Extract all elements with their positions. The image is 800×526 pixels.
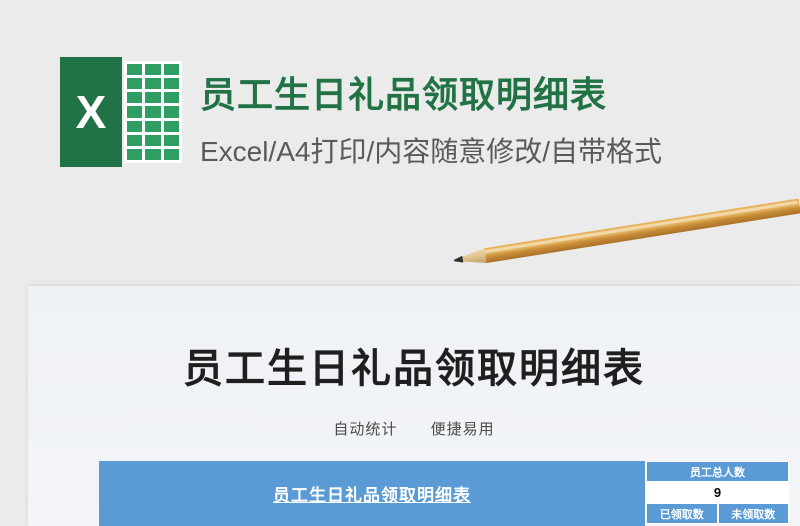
document-preview-sheet: 员工生日礼品领取明细表 自动统计 便捷易用 员工生日礼品领取明细表 员工总人数 … (28, 286, 800, 526)
stats-received-label: 已领取数 (646, 503, 718, 524)
header-title: 员工生日礼品领取明细表 (200, 66, 607, 118)
document-taglines: 自动统计 便捷易用 (28, 418, 800, 439)
stats-panel: 员工总人数 9 已领取数 未领取数 (645, 461, 789, 526)
page-root: X 员工生日礼品领取明细表 Excel/A4打印/内容随意修改/自带格式 员工生… (0, 0, 800, 526)
excel-logo-grid (124, 61, 182, 163)
stats-row-total-label: 员工总人数 (646, 461, 789, 482)
excel-logo-letter: X (60, 57, 122, 167)
tagline-auto-stats: 自动统计 (333, 421, 397, 438)
stats-not-received-label: 未领取数 (718, 503, 790, 524)
header-subtitle: Excel/A4打印/内容随意修改/自带格式 (200, 130, 662, 170)
stats-row-total-value: 9 (646, 482, 789, 503)
spreadsheet-title-band: 员工生日礼品领取明细表 (99, 461, 645, 526)
document-title: 员工生日礼品领取明细表 (28, 336, 800, 394)
spreadsheet-header-row: 员工生日礼品领取明细表 员工总人数 9 已领取数 未领取数 (99, 461, 789, 526)
excel-logo-icon: X (60, 57, 182, 167)
tagline-easy-use: 便捷易用 (431, 421, 495, 438)
spreadsheet-title-link[interactable]: 员工生日礼品领取明细表 (99, 481, 645, 506)
stats-total-value: 9 (646, 482, 789, 503)
stats-total-label: 员工总人数 (646, 461, 789, 482)
stats-row-sub-labels: 已领取数 未领取数 (646, 503, 789, 524)
header-banner: X 员工生日礼品领取明细表 Excel/A4打印/内容随意修改/自带格式 (0, 0, 800, 272)
